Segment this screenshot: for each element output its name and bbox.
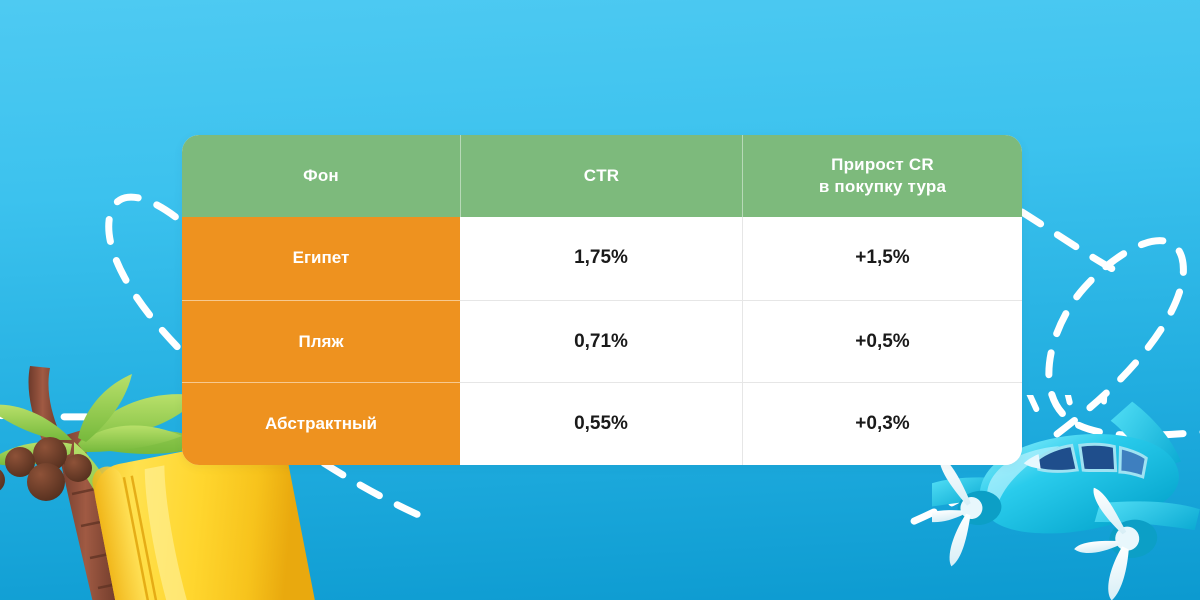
row-label-text: Абстрактный (265, 414, 377, 434)
row-label-cell: Пляж (182, 300, 460, 383)
table-header-background: Фон (182, 135, 460, 217)
row-label-text: Египет (293, 248, 350, 268)
table-row: Абстрактный 0,55% +0,3% (182, 382, 1022, 465)
row-cr-growth-cell: +1,5% (742, 217, 1022, 300)
suitcase-illustration (84, 443, 324, 600)
dashed-segment-right-icon (1022, 212, 1118, 272)
row-ctr-cell: 0,55% (460, 382, 742, 465)
table-body: Египет 1,75% +1,5% Пляж 0,71% +0,5% (182, 217, 1022, 465)
row-ctr-value: 0,55% (574, 413, 628, 435)
table-header-background-label: Фон (303, 165, 339, 187)
row-cr-growth-value: +0,3% (855, 413, 909, 435)
table-header-cr-growth-line1: Прирост CR (831, 155, 934, 174)
table-row: Египет 1,75% +1,5% (182, 217, 1022, 300)
table-header-ctr: CTR (460, 135, 742, 217)
row-label-cell: Абстрактный (182, 382, 460, 465)
table-header-cr-growth: Прирост CR в покупку тура (742, 135, 1022, 217)
row-ctr-value: 0,71% (574, 331, 628, 353)
table-header-cr-growth-line2: в покупку тура (819, 177, 946, 196)
table-header-row: Фон CTR Прирост CR в покупку тура (182, 135, 1022, 217)
row-ctr-cell: 0,71% (460, 300, 742, 383)
row-label-cell: Египет (182, 217, 460, 300)
table-header-cr-growth-label: Прирост CR в покупку тура (819, 154, 946, 198)
row-cr-growth-cell: +0,5% (742, 300, 1022, 383)
poster-canvas: Фон CTR Прирост CR в покупку тура Египет… (0, 0, 1200, 600)
row-cr-growth-cell: +0,3% (742, 382, 1022, 465)
row-ctr-cell: 1,75% (460, 217, 742, 300)
table-row: Пляж 0,71% +0,5% (182, 300, 1022, 383)
table-header-ctr-label: CTR (584, 165, 620, 187)
row-label-text: Пляж (299, 332, 344, 352)
metrics-table: Фон CTR Прирост CR в покупку тура Египет… (182, 135, 1022, 465)
row-cr-growth-value: +1,5% (855, 247, 909, 269)
row-cr-growth-value: +0,5% (855, 331, 909, 353)
row-ctr-value: 1,75% (574, 247, 628, 269)
